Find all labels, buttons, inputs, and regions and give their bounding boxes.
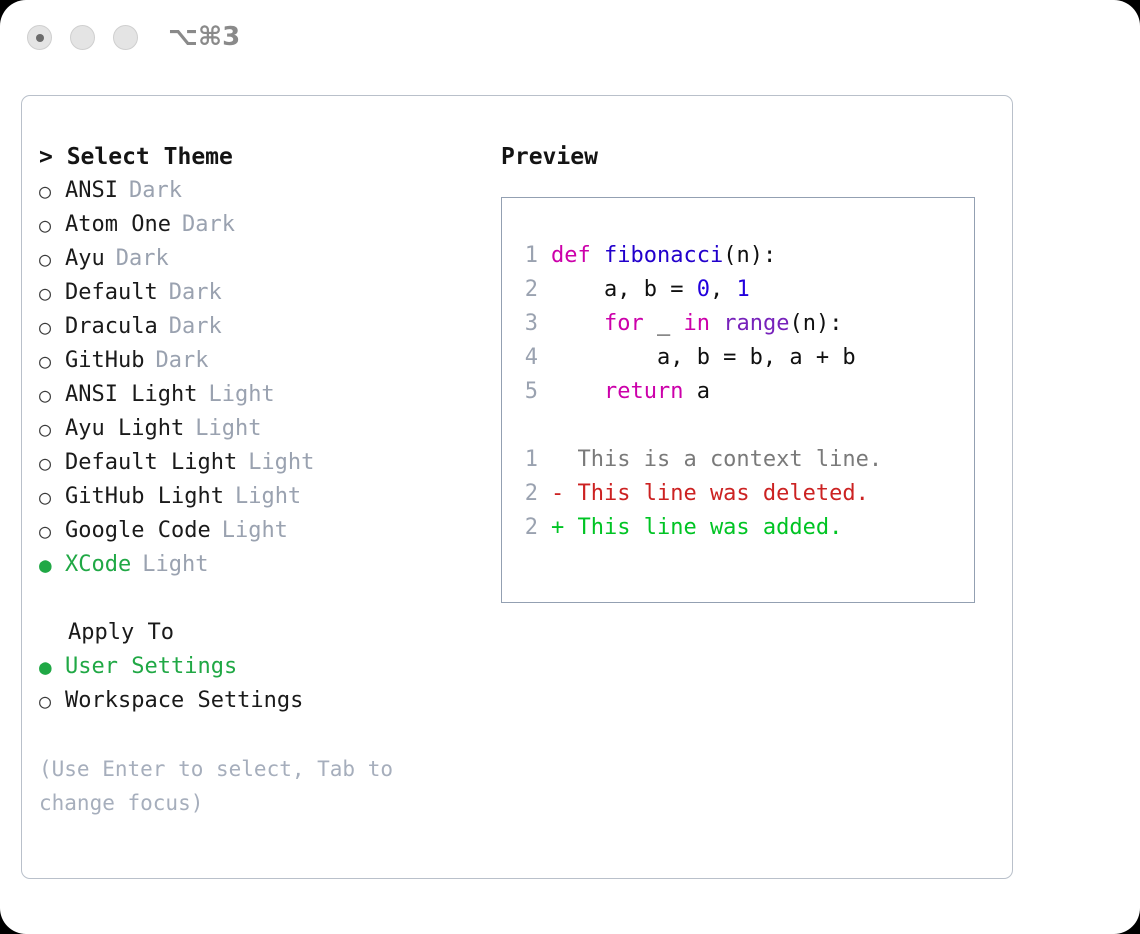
theme-option-label: GitHub	[65, 344, 144, 378]
select-theme-header: > Select Theme	[39, 140, 479, 174]
line-number: 2	[518, 477, 538, 511]
theme-option-3[interactable]: ○DefaultDark	[39, 276, 479, 310]
theme-option-1[interactable]: ○Atom OneDark	[39, 208, 479, 242]
theme-kind-label: Light	[235, 480, 301, 514]
keyboard-hint: (Use Enter to select, Tab to change focu…	[39, 752, 444, 820]
radio-unselected-icon: ○	[39, 276, 65, 310]
preview-column: Preview 1def fibonacci(n):2 a, b = 0, 13…	[501, 140, 996, 603]
line-number: 1	[518, 239, 538, 273]
code-token-pl: a	[683, 379, 710, 404]
radio-unselected-icon: ○	[39, 378, 65, 412]
theme-kind-label: Dark	[116, 242, 169, 276]
radio-unselected-icon: ○	[39, 446, 65, 480]
theme-kind-label: Light	[195, 412, 261, 446]
code-token-bi: range	[723, 311, 789, 336]
theme-option-label: ANSI	[65, 174, 118, 208]
code-token-pl: (n):	[789, 311, 842, 336]
theme-list: ○ANSIDark○Atom OneDark○AyuDark○DefaultDa…	[39, 174, 479, 582]
theme-kind-label: Light	[222, 514, 288, 548]
window-dot-2[interactable]	[70, 25, 95, 50]
theme-option-0[interactable]: ○ANSIDark	[39, 174, 479, 208]
theme-kind-label: Dark	[169, 276, 222, 310]
theme-option-6[interactable]: ○ANSI LightLight	[39, 378, 479, 412]
theme-option-label: Default	[65, 276, 158, 310]
radio-selected-icon: ●	[39, 548, 65, 582]
theme-selector-panel: > Select Theme ○ANSIDark○Atom OneDark○Ay…	[21, 95, 1013, 879]
line-number: 4	[518, 341, 538, 375]
theme-option-7[interactable]: ○Ayu LightLight	[39, 412, 479, 446]
radio-unselected-icon: ○	[39, 514, 65, 548]
code-token-pl: a, b =	[551, 277, 697, 302]
theme-option-label: Default Light	[65, 446, 237, 480]
theme-option-4[interactable]: ○DraculaDark	[39, 310, 479, 344]
radio-unselected-icon: ○	[39, 174, 65, 208]
theme-option-label: Dracula	[65, 310, 158, 344]
code-token-pl: a, b = b, a + b	[551, 345, 856, 370]
code-token-add: + This line was added.	[551, 515, 842, 540]
window-controls	[27, 25, 138, 50]
app-window: ⌥⌘3 > Select Theme ○ANSIDark○Atom OneDar…	[0, 0, 1140, 934]
preview-title: Preview	[501, 140, 996, 174]
theme-kind-label: Dark	[155, 344, 208, 378]
apply-to-option-0[interactable]: ●User Settings	[39, 650, 479, 684]
code-line-1: 2 a, b = 0, 1	[518, 273, 882, 307]
theme-option-label: Ayu Light	[65, 412, 184, 446]
code-token-kw: for	[604, 311, 644, 336]
line-number: 5	[518, 375, 538, 409]
code-token-pl: _	[644, 311, 684, 336]
line-number: 3	[518, 307, 538, 341]
theme-kind-label: Dark	[169, 310, 222, 344]
diff-line-0: 1 This is a context line.	[518, 443, 882, 477]
line-number: 2	[518, 273, 538, 307]
radio-unselected-icon: ○	[39, 208, 65, 242]
theme-option-10[interactable]: ○Google CodeLight	[39, 514, 479, 548]
theme-option-5[interactable]: ○GitHubDark	[39, 344, 479, 378]
window-dot-active[interactable]	[27, 25, 52, 50]
theme-kind-label: Dark	[129, 174, 182, 208]
theme-option-9[interactable]: ○GitHub LightLight	[39, 480, 479, 514]
preview-box: 1def fibonacci(n):2 a, b = 0, 13 for _ i…	[501, 197, 975, 603]
code-token-kw: def	[551, 243, 591, 268]
radio-selected-icon: ●	[39, 650, 65, 684]
code-token-del: - This line was deleted.	[551, 481, 869, 506]
line-number: 1	[518, 443, 538, 477]
window-dot-active-inner	[36, 34, 44, 42]
theme-kind-label: Light	[248, 446, 314, 480]
code-token-fn: fibonacci	[604, 243, 723, 268]
diff-line-1: 2- This line was deleted.	[518, 477, 882, 511]
theme-option-label: XCode	[65, 548, 131, 582]
radio-unselected-icon: ○	[39, 412, 65, 446]
code-line-4: 5 return a	[518, 375, 882, 409]
code-token-pl: ,	[710, 277, 737, 302]
apply-to-label: Apply To	[39, 616, 479, 650]
list-spacer	[39, 582, 479, 616]
apply-to-option-label: User Settings	[65, 650, 237, 684]
theme-option-8[interactable]: ○Default LightLight	[39, 446, 479, 480]
window-dot-3[interactable]	[113, 25, 138, 50]
code-token-kw: return	[604, 379, 683, 404]
radio-unselected-icon: ○	[39, 242, 65, 276]
theme-kind-label: Light	[142, 548, 208, 582]
radio-unselected-icon: ○	[39, 684, 65, 718]
apply-to-option-label: Workspace Settings	[65, 684, 303, 718]
theme-kind-label: Light	[208, 378, 274, 412]
theme-kind-label: Dark	[182, 208, 235, 242]
code-blank-line	[518, 409, 882, 443]
code-token-num: 0	[697, 277, 710, 302]
radio-unselected-icon: ○	[39, 344, 65, 378]
radio-unselected-icon: ○	[39, 480, 65, 514]
code-token-pl	[551, 379, 604, 404]
apply-to-option-1[interactable]: ○Workspace Settings	[39, 684, 479, 718]
theme-option-label: GitHub Light	[65, 480, 224, 514]
radio-unselected-icon: ○	[39, 310, 65, 344]
theme-list-column: > Select Theme ○ANSIDark○Atom OneDark○Ay…	[39, 140, 479, 820]
code-token-ctx: This is a context line.	[551, 447, 882, 472]
preview-code: 1def fibonacci(n):2 a, b = 0, 13 for _ i…	[518, 239, 882, 545]
code-line-0: 1def fibonacci(n):	[518, 239, 882, 273]
theme-option-label: Atom One	[65, 208, 171, 242]
code-line-2: 3 for _ in range(n):	[518, 307, 882, 341]
title-bar: ⌥⌘3	[0, 0, 1140, 78]
theme-option-label: Ayu	[65, 242, 105, 276]
apply-to-list: ●User Settings○Workspace Settings	[39, 650, 479, 718]
code-token-kw: in	[683, 311, 710, 336]
theme-option-2[interactable]: ○AyuDark	[39, 242, 479, 276]
diff-line-2: 2+ This line was added.	[518, 511, 882, 545]
line-number: 2	[518, 511, 538, 545]
code-token-pl	[591, 243, 604, 268]
code-token-pl: (n):	[723, 243, 776, 268]
code-token-num: 1	[736, 277, 749, 302]
code-token-pl	[710, 311, 723, 336]
code-line-3: 4 a, b = b, a + b	[518, 341, 882, 375]
keyboard-shortcut-label: ⌥⌘3	[168, 22, 240, 52]
theme-option-11[interactable]: ●XCodeLight	[39, 548, 479, 582]
code-token-pl	[551, 311, 604, 336]
theme-option-label: ANSI Light	[65, 378, 197, 412]
theme-option-label: Google Code	[65, 514, 211, 548]
